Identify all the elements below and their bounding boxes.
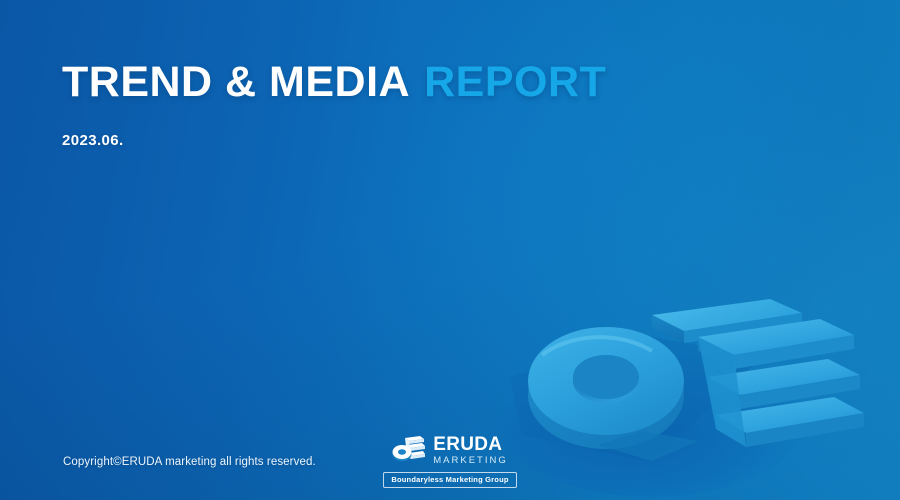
logo-row: ERUDA MARKETING <box>392 435 507 466</box>
hero-cast-shadow <box>502 337 802 497</box>
logo-wordmark: ERUDA MARKETING <box>433 435 507 466</box>
cover-slide: TREND & MEDIAREPORT 2023.06. Copyright©E… <box>0 0 900 500</box>
logo-tagline-badge: Boundaryless Marketing Group <box>383 472 516 489</box>
page-title: TREND & MEDIAREPORT <box>62 58 606 106</box>
title-accent: REPORT <box>424 58 606 106</box>
title-primary: TREND & MEDIA <box>62 58 410 106</box>
footer-logo: ERUDA MARKETING Boundaryless Marketing G… <box>390 435 510 489</box>
hero-3d-logo-graphic <box>502 285 882 500</box>
hero-letter-e <box>698 319 864 447</box>
hero-letter-o <box>528 327 684 449</box>
report-date: 2023.06. <box>62 106 606 149</box>
logo-brand-name: ERUDA <box>433 435 507 454</box>
hero-e-upper-arm <box>652 299 802 343</box>
title-block: TREND & MEDIAREPORT 2023.06. <box>62 58 606 149</box>
eruda-logo-icon <box>392 435 426 466</box>
hero-ribbon-tail <box>598 431 698 461</box>
logo-brand-sub: MARKETING <box>433 454 507 466</box>
copyright-text: Copyright©ERUDA marketing all rights res… <box>63 456 316 468</box>
